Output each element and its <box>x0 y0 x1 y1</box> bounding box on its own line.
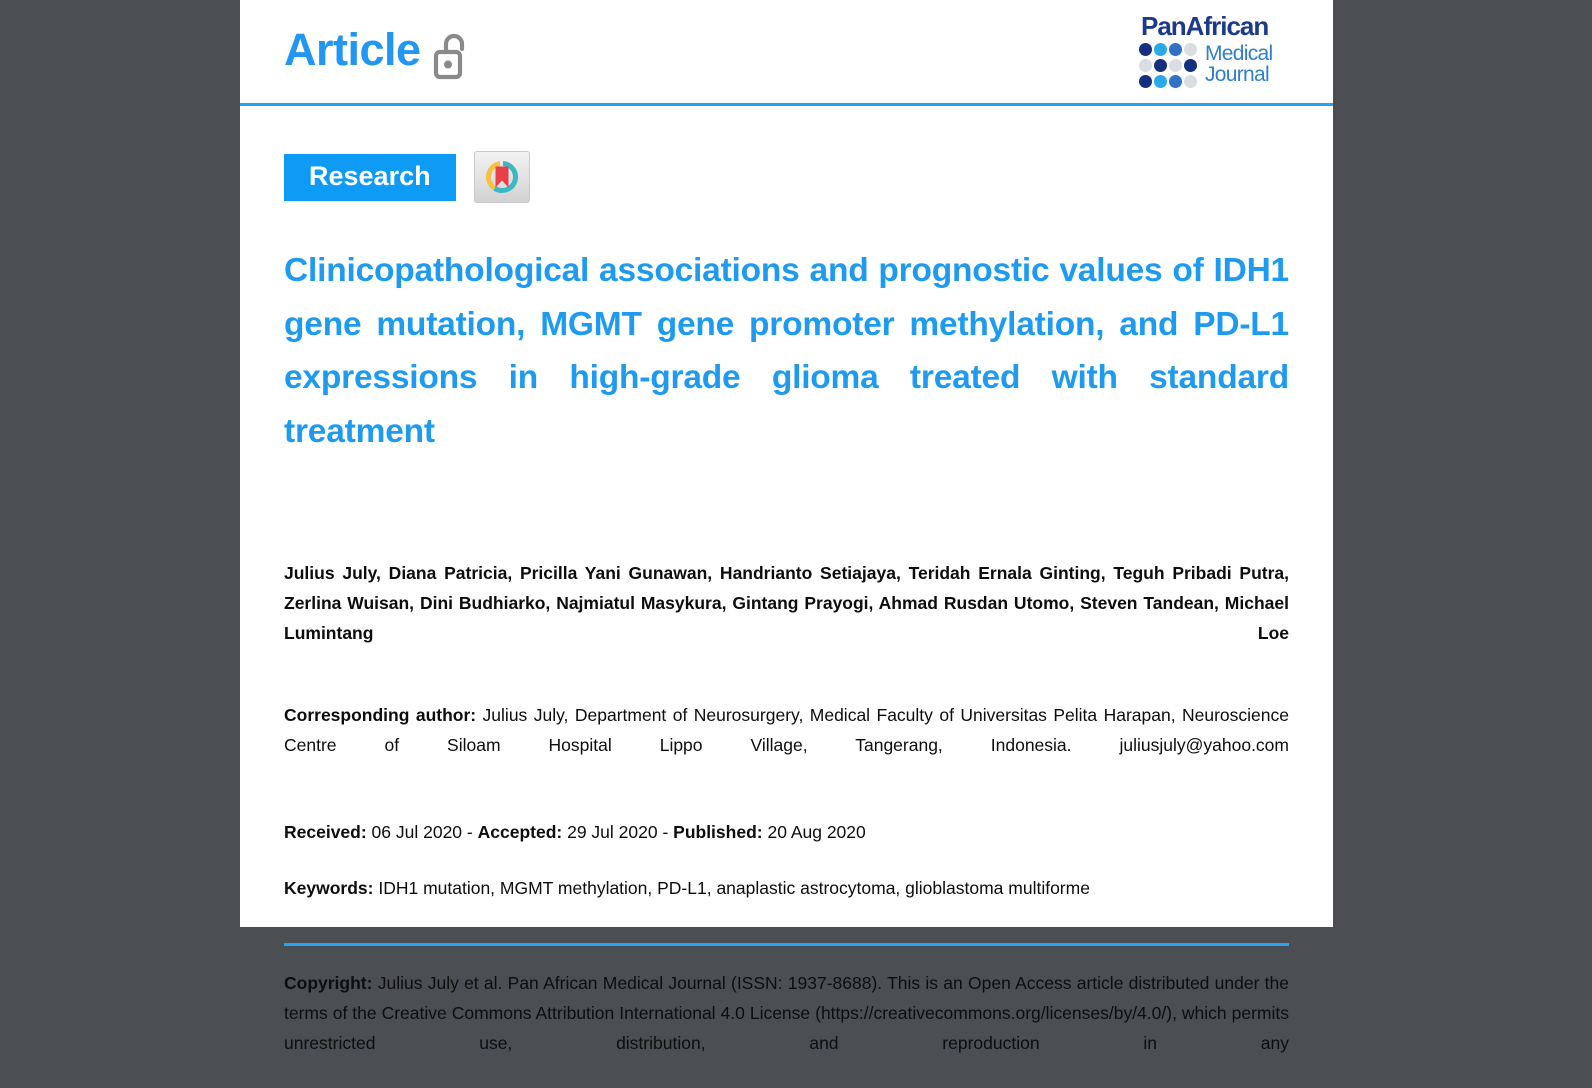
logo-word-journal: Journal <box>1205 64 1272 85</box>
journal-logo: PanAfrican Medical <box>1123 13 1298 90</box>
logo-dot <box>1169 59 1182 72</box>
accepted-value: 29 Jul 2020 <box>562 822 657 842</box>
dates-separator: - <box>462 822 478 842</box>
corresponding-author-label: Corresponding author: <box>284 705 476 725</box>
copyright-label: Copyright: <box>284 973 372 993</box>
logo-dot <box>1184 59 1197 72</box>
received-label: Received: <box>284 822 367 842</box>
copyright-text: Julius July et al. Pan African Medical J… <box>284 973 1289 1053</box>
logo-dot <box>1169 43 1182 56</box>
received-value: 06 Jul 2020 <box>367 822 462 842</box>
article-title: Clinicopathological associations and pro… <box>284 244 1289 512</box>
dates-separator: - <box>658 822 674 842</box>
open-lock-icon <box>433 32 471 85</box>
article-page: Article PanAfrican <box>240 0 1333 927</box>
section-divider <box>284 943 1289 946</box>
logo-journal-name: PanAfrican <box>1141 13 1298 39</box>
logo-dot <box>1139 59 1152 72</box>
keywords-value: IDH1 mutation, MGMT methylation, PD-L1, … <box>373 878 1089 898</box>
published-label: Published: <box>673 822 762 842</box>
publication-dates: Received: 06 Jul 2020 - Accepted: 29 Jul… <box>284 817 1289 847</box>
keywords-label: Keywords: <box>284 878 373 898</box>
author-list: Julius July, Diana Patricia, Pricilla Ya… <box>284 558 1289 678</box>
logo-dot <box>1184 75 1197 88</box>
logo-word-medical: Medical <box>1205 43 1272 64</box>
published-value: 20 Aug 2020 <box>763 822 866 842</box>
masthead: Article PanAfrican <box>240 0 1333 106</box>
copyright-notice: Copyright: Julius July et al. Pan Africa… <box>284 968 1289 1088</box>
logo-dot <box>1154 75 1167 88</box>
accepted-label: Accepted: <box>478 822 563 842</box>
logo-dot-grid <box>1139 43 1198 90</box>
logo-dot <box>1139 75 1152 88</box>
corresponding-author: Corresponding author: Julius July, Depar… <box>284 700 1289 790</box>
badge-row: Research <box>284 151 1289 203</box>
logo-dot <box>1154 59 1167 72</box>
page-title: Article <box>284 27 421 72</box>
logo-wordmark: Medical Journal <box>1205 43 1272 86</box>
article-content: Research Clinicopathological association… <box>240 151 1333 1088</box>
altmetric-bookmark-icon[interactable] <box>474 151 530 203</box>
logo-dot <box>1169 75 1182 88</box>
logo-dot <box>1139 43 1152 56</box>
logo-dot <box>1154 43 1167 56</box>
article-type-badge[interactable]: Research <box>284 154 456 201</box>
logo-dot <box>1184 43 1197 56</box>
keywords: Keywords: IDH1 mutation, MGMT methylatio… <box>284 873 1289 903</box>
